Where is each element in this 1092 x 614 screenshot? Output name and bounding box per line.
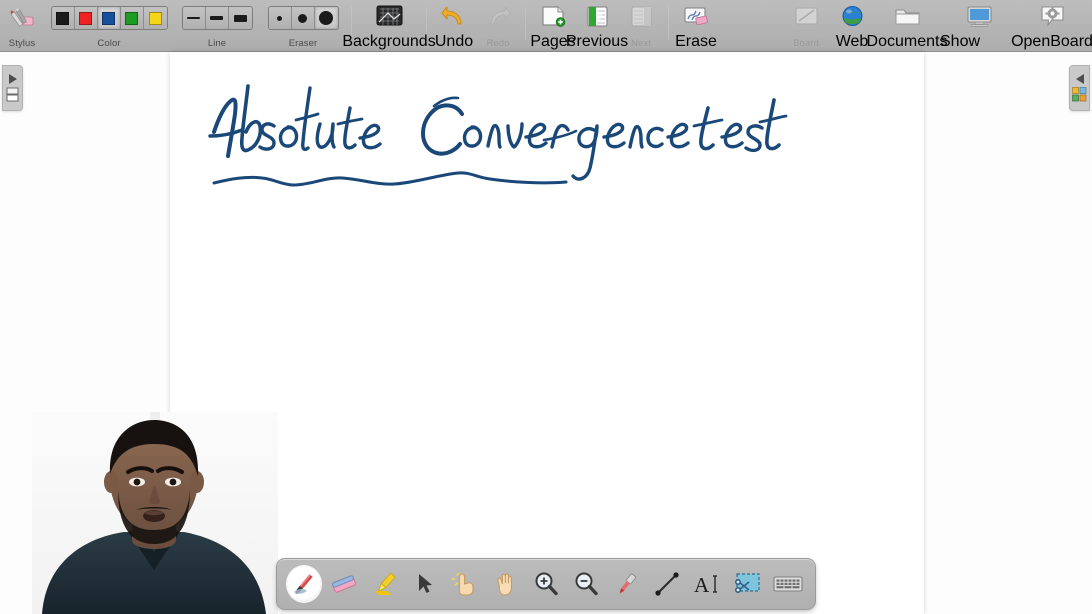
line-tool[interactable] (650, 566, 684, 602)
color-swatch-blue[interactable] (98, 7, 121, 29)
erase-label: Erase (675, 33, 717, 51)
next-label: Next (631, 38, 651, 49)
scissors-capture-icon (734, 571, 762, 597)
undo-arrow-icon (441, 5, 467, 33)
toolbar-separator-3 (525, 6, 526, 40)
handwriting-ink (170, 52, 924, 614)
line-icon (654, 571, 680, 597)
color-swatches[interactable] (51, 6, 168, 30)
backgrounds-icon (376, 5, 403, 33)
presenter-video (32, 412, 278, 614)
pen-tool[interactable] (287, 566, 321, 602)
undo-label: Undo (435, 33, 473, 51)
openboard-label: OpenBoard (1011, 33, 1092, 51)
left-panel-handle[interactable] (2, 65, 23, 111)
backgrounds-label: Backgrounds (342, 33, 435, 51)
triangle-right-icon (9, 74, 17, 84)
highlighter-tool[interactable] (368, 566, 402, 602)
mode-board-button[interactable]: Board (782, 0, 830, 52)
undo-button[interactable]: Undo (432, 0, 476, 52)
text-tool[interactable]: A (690, 566, 724, 602)
eraser-icon (330, 572, 358, 596)
triangle-left-icon (1076, 74, 1084, 84)
mode-documents-button[interactable]: Documents (874, 0, 940, 52)
board-label: Board (793, 38, 819, 49)
openboard-window: Stylus Color Line (0, 0, 1092, 614)
keyboard-tool[interactable] (771, 566, 805, 602)
monitor-icon (966, 5, 993, 33)
mode-show-desktop-button[interactable]: Show Desktop (940, 0, 1018, 52)
line-width-medium[interactable] (206, 7, 229, 29)
web-label: Web (836, 33, 869, 51)
documents-label: Documents (867, 33, 948, 51)
globe-icon (840, 5, 865, 33)
line-width-thin[interactable] (183, 7, 206, 29)
magnifier-plus-icon (533, 571, 559, 597)
magnifier-minus-icon (573, 571, 599, 597)
capture-tool[interactable] (731, 566, 765, 602)
mode-openboard-button[interactable]: OpenBoard (1018, 0, 1086, 52)
eraser-label: Eraser (289, 38, 318, 49)
color-swatch-black[interactable] (52, 7, 75, 29)
top-toolbar: Stylus Color Line (0, 0, 1092, 52)
erase-board-icon (683, 5, 710, 33)
keyboard-icon (773, 573, 803, 595)
previous-page-button[interactable]: Previous (575, 0, 619, 52)
next-page-icon (628, 5, 655, 33)
new-page-icon (540, 5, 567, 33)
redo-button[interactable]: Redo (476, 0, 520, 52)
color-swatch-red[interactable] (75, 7, 98, 29)
eraser-tool[interactable] (327, 566, 361, 602)
backgrounds-button[interactable]: Backgrounds (357, 0, 421, 52)
line-width-picker[interactable] (182, 6, 253, 30)
canvas-margin-right (924, 52, 1092, 614)
laser-pointer-icon (615, 571, 639, 597)
stylus-icon (7, 6, 37, 35)
tool-palette: A (276, 558, 816, 610)
zoom-out-tool[interactable] (569, 566, 603, 602)
redo-arrow-icon (485, 5, 511, 33)
library-panel-icon (1072, 87, 1087, 102)
erase-board-button[interactable]: Erase (674, 0, 718, 52)
color-swatch-green[interactable] (121, 7, 144, 29)
interact-tool[interactable] (448, 566, 482, 602)
eraser-size-large[interactable] (315, 7, 338, 29)
arrow-cursor-icon (415, 572, 435, 596)
gear-balloon-icon (1039, 5, 1066, 33)
eraser-size-picker[interactable] (268, 6, 339, 30)
svg-text:A: A (694, 573, 710, 597)
stylus-group[interactable]: Stylus (0, 0, 44, 52)
line-group: Line (174, 0, 260, 52)
line-label: Line (208, 38, 226, 49)
color-group: Color (44, 0, 174, 52)
toolbar-separator-4 (668, 6, 669, 40)
selector-tool[interactable] (408, 566, 442, 602)
pen-icon (291, 571, 317, 597)
pages-panel-icon (6, 87, 19, 102)
previous-page-icon (584, 5, 611, 33)
zoom-in-tool[interactable] (529, 566, 563, 602)
color-swatch-yellow[interactable] (144, 7, 167, 29)
board-page[interactable] (170, 52, 924, 614)
board-stage (0, 52, 1092, 614)
open-hand-icon (492, 571, 520, 597)
folder-icon (894, 5, 921, 33)
next-page-button[interactable]: Next (619, 0, 663, 52)
line-width-thick[interactable] (229, 7, 252, 29)
board-icon (793, 5, 820, 33)
right-panel-handle[interactable] (1069, 65, 1090, 111)
stylus-label: Stylus (9, 38, 35, 49)
redo-label: Redo (486, 38, 509, 49)
hand-tool[interactable] (489, 566, 523, 602)
eraser-size-small[interactable] (269, 7, 292, 29)
highlighter-icon (371, 571, 399, 597)
laser-tool[interactable] (610, 566, 644, 602)
eraser-group: Eraser (260, 0, 346, 52)
pointing-hand-icon (451, 571, 479, 597)
text-a-icon: A (693, 571, 721, 597)
color-label: Color (97, 38, 120, 49)
eraser-size-medium[interactable] (292, 7, 315, 29)
